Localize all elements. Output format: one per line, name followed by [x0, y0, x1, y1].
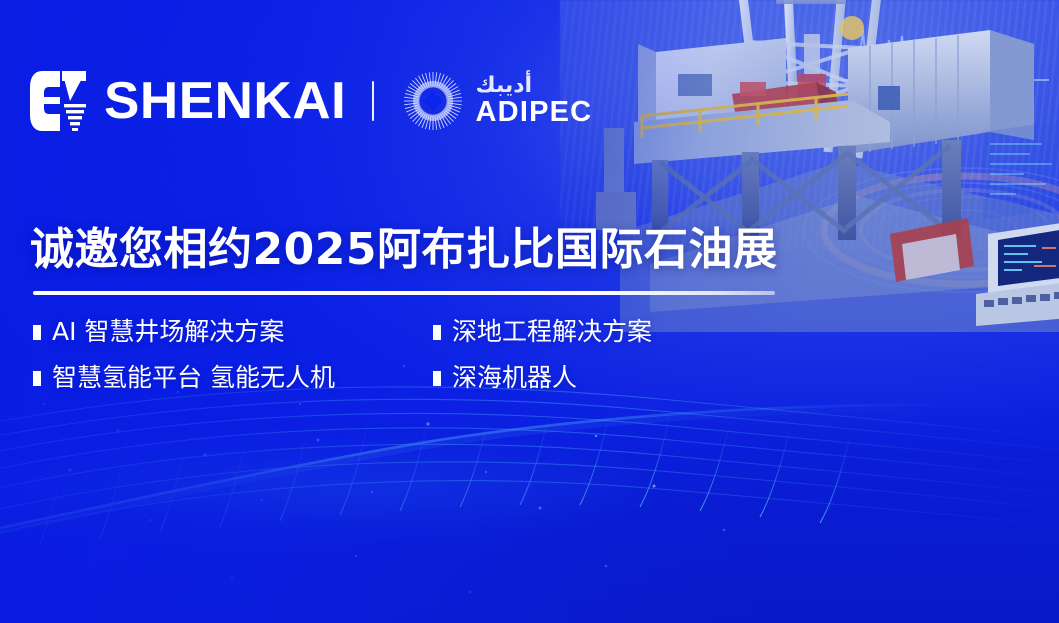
logo-divider [372, 81, 374, 121]
bullet-label: 智慧氢能平台 氢能无人机 [52, 360, 335, 396]
bullet-square-icon [33, 371, 41, 386]
bullet-label: 深地工程解决方案 [452, 314, 652, 350]
bullet-item: 深地工程解决方案 [433, 314, 652, 350]
bullet-item: AI 智慧井场解决方案 [33, 314, 433, 350]
shenkai-logo-mark [30, 71, 88, 131]
bullet-label: 深海机器人 [452, 360, 577, 396]
banner-headline: 诚邀您相约2025阿布扎比国际石油展 [30, 222, 777, 278]
logo-row: SHENKAI [30, 62, 592, 140]
bullet-row: AI 智慧井场解决方案 深地工程解决方案 [33, 314, 793, 350]
headline-underline-rule [33, 291, 775, 295]
adipec-radial-mark [402, 70, 464, 132]
feature-bullet-list: AI 智慧井场解决方案 深地工程解决方案 智慧氢能平台 氢能无人机 深海机器人 [33, 314, 793, 406]
bullet-square-icon [33, 325, 41, 340]
bullet-label: AI 智慧井场解决方案 [52, 314, 284, 350]
adipec-logo: أديبك ADIPEC [402, 70, 593, 132]
adipec-arabic-name: أديبك [476, 75, 533, 96]
adipec-text-block: أديبك ADIPEC [476, 75, 593, 127]
adipec-promo-banner: SHENKAI [0, 0, 1059, 623]
adipec-latin-name: ADIPEC [476, 97, 593, 127]
bullet-item: 智慧氢能平台 氢能无人机 [33, 360, 433, 396]
shenkai-wordmark: SHENKAI [104, 75, 346, 127]
bullet-item: 深海机器人 [433, 360, 577, 396]
bullet-square-icon [433, 371, 441, 386]
banner-content: SHENKAI [0, 0, 1059, 623]
bullet-row: 智慧氢能平台 氢能无人机 深海机器人 [33, 360, 793, 396]
bullet-square-icon [433, 325, 441, 340]
